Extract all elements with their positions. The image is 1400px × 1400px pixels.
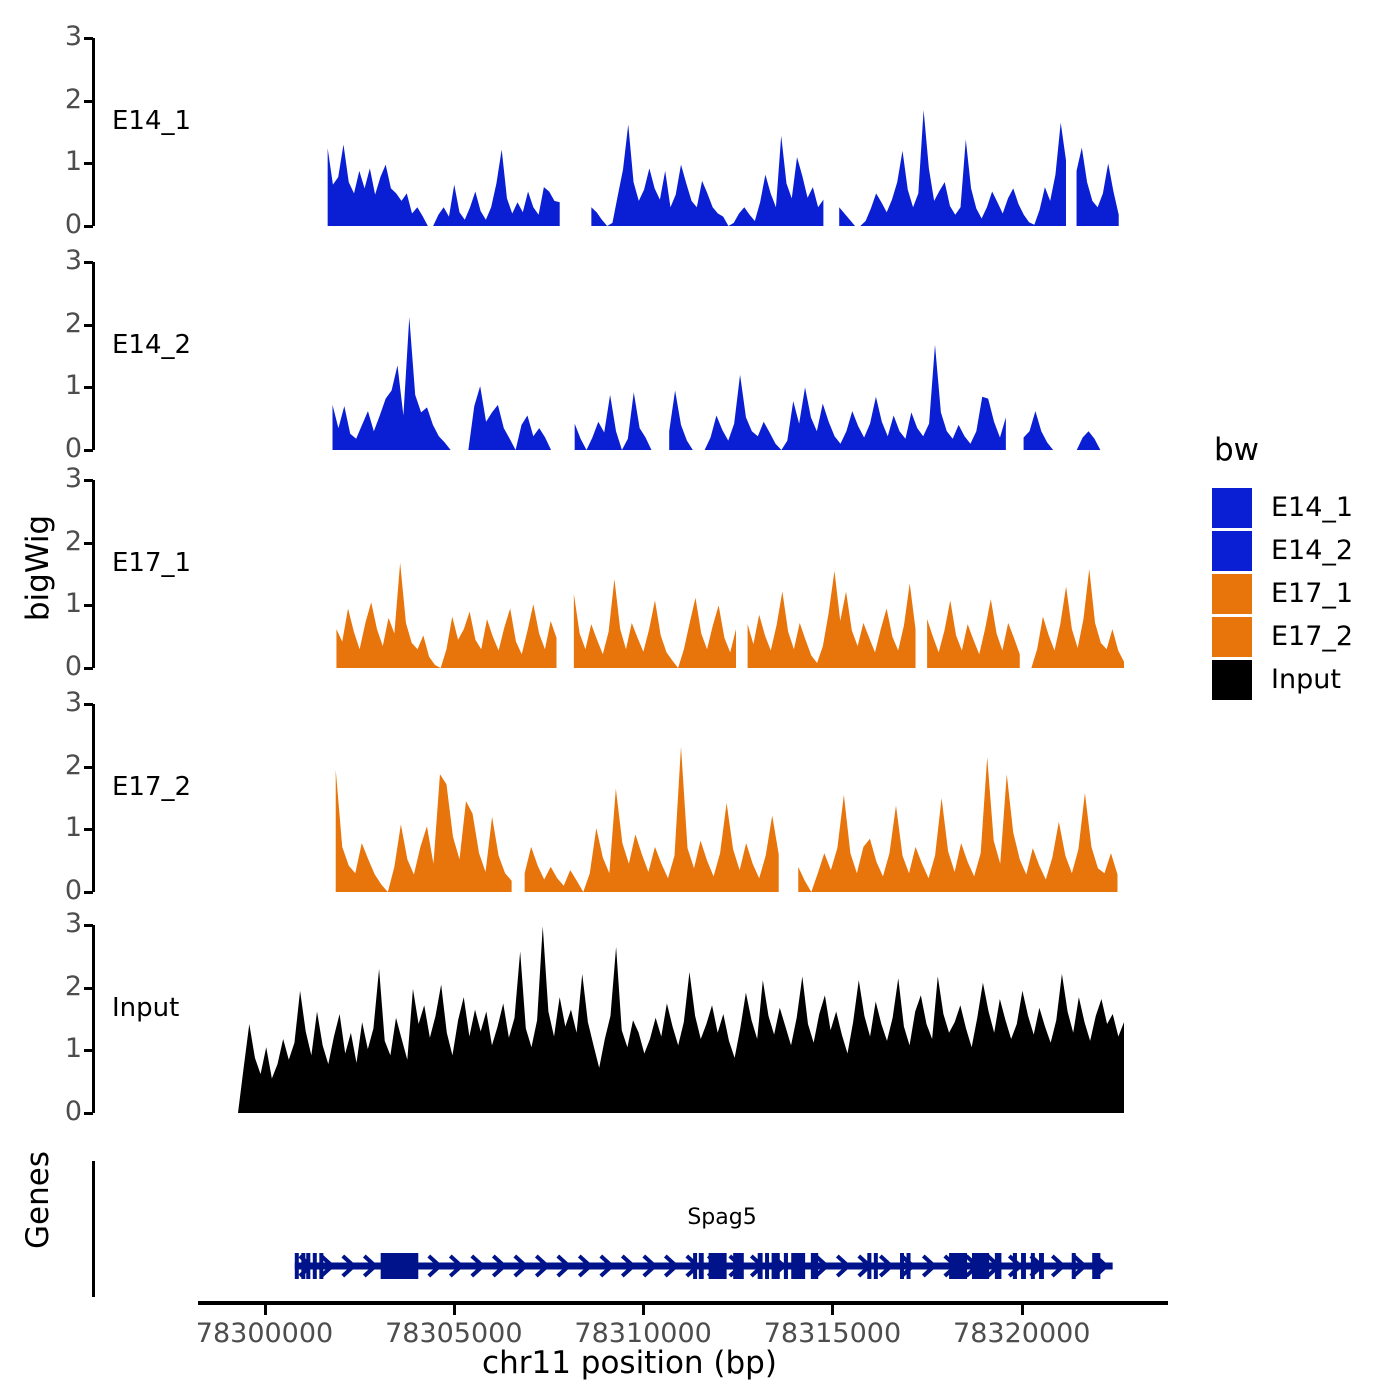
legend-item-e17_1[interactable]: E17_1 [1212,572,1353,615]
y-tick-label-e17_1-3: 3 [42,465,82,492]
legend-label-e17_1: E17_1 [1271,578,1353,609]
legend-item-e17_2[interactable]: E17_2 [1212,615,1353,658]
y-tick-label-e14_2-1: 1 [42,372,82,399]
legend-swatch-e17_1 [1212,574,1252,614]
y-tick-label-e14_1-0: 0 [42,211,82,238]
track-profile-e14_2 [0,0,1400,1400]
y-tick-label-e17_2-2: 2 [42,752,82,779]
legend-label-e14_2: E14_2 [1271,535,1353,566]
y-axis-spine-input [92,925,95,1113]
gene-model-spag5[interactable] [0,0,1400,1400]
y-tick-label-e14_2-3: 3 [42,247,82,274]
y-tick-label-e17_2-1: 1 [42,814,82,841]
y-tick-label-input-1: 1 [42,1035,82,1062]
x-tick-78315000 [831,1305,834,1315]
legend-swatch-e14_2 [1212,531,1252,571]
legend-title: bw [1212,432,1353,468]
y-tick-e14_2-2 [84,324,93,327]
y-axis-spine-e14_1 [92,38,95,226]
y-tick-e17_1-1 [84,604,93,607]
y-tick-label-e17_2-3: 3 [42,689,82,716]
legend-item-input[interactable]: Input [1212,658,1353,701]
y-tick-e14_2-1 [84,386,93,389]
track-label-e17_2: E17_2 [112,772,191,802]
y-tick-e17_2-2 [84,766,93,769]
y-tick-e17_1-3 [84,479,93,482]
y-tick-e14_1-0 [84,225,93,228]
legend-label-e14_1: E14_1 [1271,492,1353,523]
legend-items: E14_1E14_2E17_1E17_2Input [1212,486,1353,701]
legend-swatch-e17_2 [1212,617,1252,657]
y-tick-e17_2-3 [84,703,93,706]
genes-panel-axis [92,1161,95,1297]
gene-label-spag5: Spag5 [687,1205,756,1230]
y-tick-e17_1-0 [84,667,93,670]
x-tick-78310000 [642,1305,645,1315]
y-tick-input-1 [84,1049,93,1052]
y-tick-e14_2-3 [84,261,93,264]
y-tick-label-e17_1-0: 0 [42,653,82,680]
legend-swatch-input [1212,660,1252,700]
y-tick-e14_2-0 [84,449,93,452]
x-tick-78300000 [264,1305,267,1315]
track-profile-e17_2 [0,0,1400,1400]
y-tick-label-input-3: 3 [42,910,82,937]
track-label-e17_1: E17_1 [112,548,191,578]
legend-item-e14_1[interactable]: E14_1 [1212,486,1353,529]
x-tick-label-78310000: 78310000 [574,1318,711,1349]
x-axis-title: chr11 position (bp) [92,1345,1167,1381]
y-tick-e14_1-1 [84,162,93,165]
y-tick-e14_1-3 [84,37,93,40]
y-tick-e14_1-2 [84,100,93,103]
y-tick-label-e17_2-0: 0 [42,877,82,904]
legend-label-input: Input [1271,664,1341,695]
y-tick-input-0 [84,1112,93,1115]
y-axis-spine-e17_1 [92,480,95,668]
genes-axis-title: Genes [20,1100,56,1300]
y-tick-label-input-0: 0 [42,1098,82,1125]
track-label-input: Input [112,993,179,1023]
y-tick-label-e17_1-2: 2 [42,528,82,555]
y-tick-input-2 [84,987,93,990]
y-tick-label-e14_1-2: 2 [42,86,82,113]
legend-item-e14_2[interactable]: E14_2 [1212,529,1353,572]
y-axis-spine-e17_2 [92,704,95,892]
legend: bw E14_1E14_2E17_1E17_2Input [1212,432,1353,701]
y-tick-label-e14_1-3: 3 [42,23,82,50]
y-tick-label-input-2: 2 [42,973,82,1000]
x-tick-label-78320000: 78320000 [953,1318,1090,1349]
legend-swatch-e14_1 [1212,488,1252,528]
y-tick-label-e17_1-1: 1 [42,590,82,617]
legend-label-e17_2: E17_2 [1271,621,1353,652]
track-label-e14_1: E14_1 [112,106,191,136]
y-tick-e17_2-0 [84,891,93,894]
y-tick-label-e14_2-0: 0 [42,435,82,462]
y-axis-spine-e14_2 [92,262,95,450]
y-tick-e17_2-1 [84,828,93,831]
track-label-e14_2: E14_2 [112,330,191,360]
track-profile-input [0,0,1400,1400]
track-profile-e17_1 [0,0,1400,1400]
y-tick-label-e14_2-2: 2 [42,310,82,337]
track-profile-e14_1 [0,0,1400,1400]
x-tick-78305000 [453,1305,456,1315]
x-tick-78320000 [1021,1305,1024,1315]
y-axis-title: bigWig [20,468,56,668]
x-tick-label-78300000: 78300000 [196,1318,333,1349]
y-tick-input-3 [84,924,93,927]
y-tick-e17_1-2 [84,542,93,545]
y-tick-label-e14_1-1: 1 [42,148,82,175]
x-tick-label-78315000: 78315000 [764,1318,901,1349]
x-tick-label-78305000: 78305000 [385,1318,522,1349]
